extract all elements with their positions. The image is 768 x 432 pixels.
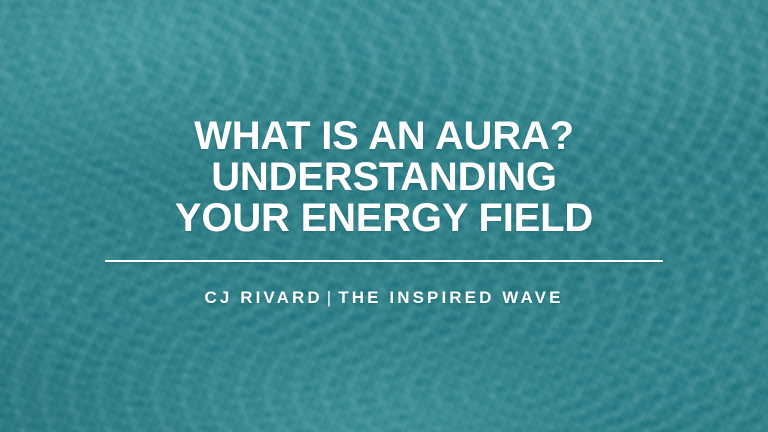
page-title: WHAT IS AN AURA? UNDERSTANDING YOUR ENER… — [0, 116, 768, 239]
horizontal-divider — [105, 260, 663, 262]
subtitle-author: CJ RIVARD — [204, 288, 322, 307]
subtitle-byline: CJ RIVARD|THE INSPIRED WAVE — [204, 288, 563, 308]
title-slide: WHAT IS AN AURA? UNDERSTANDING YOUR ENER… — [0, 0, 768, 432]
title-line-1: WHAT IS AN AURA? — [0, 116, 768, 157]
subtitle-separator: | — [323, 288, 339, 307]
title-line-2: UNDERSTANDING — [0, 157, 768, 198]
title-line-3: YOUR ENERGY FIELD — [0, 198, 768, 239]
subtitle-brand: THE INSPIRED WAVE — [338, 288, 563, 307]
slide-content: WHAT IS AN AURA? UNDERSTANDING YOUR ENER… — [0, 0, 768, 432]
